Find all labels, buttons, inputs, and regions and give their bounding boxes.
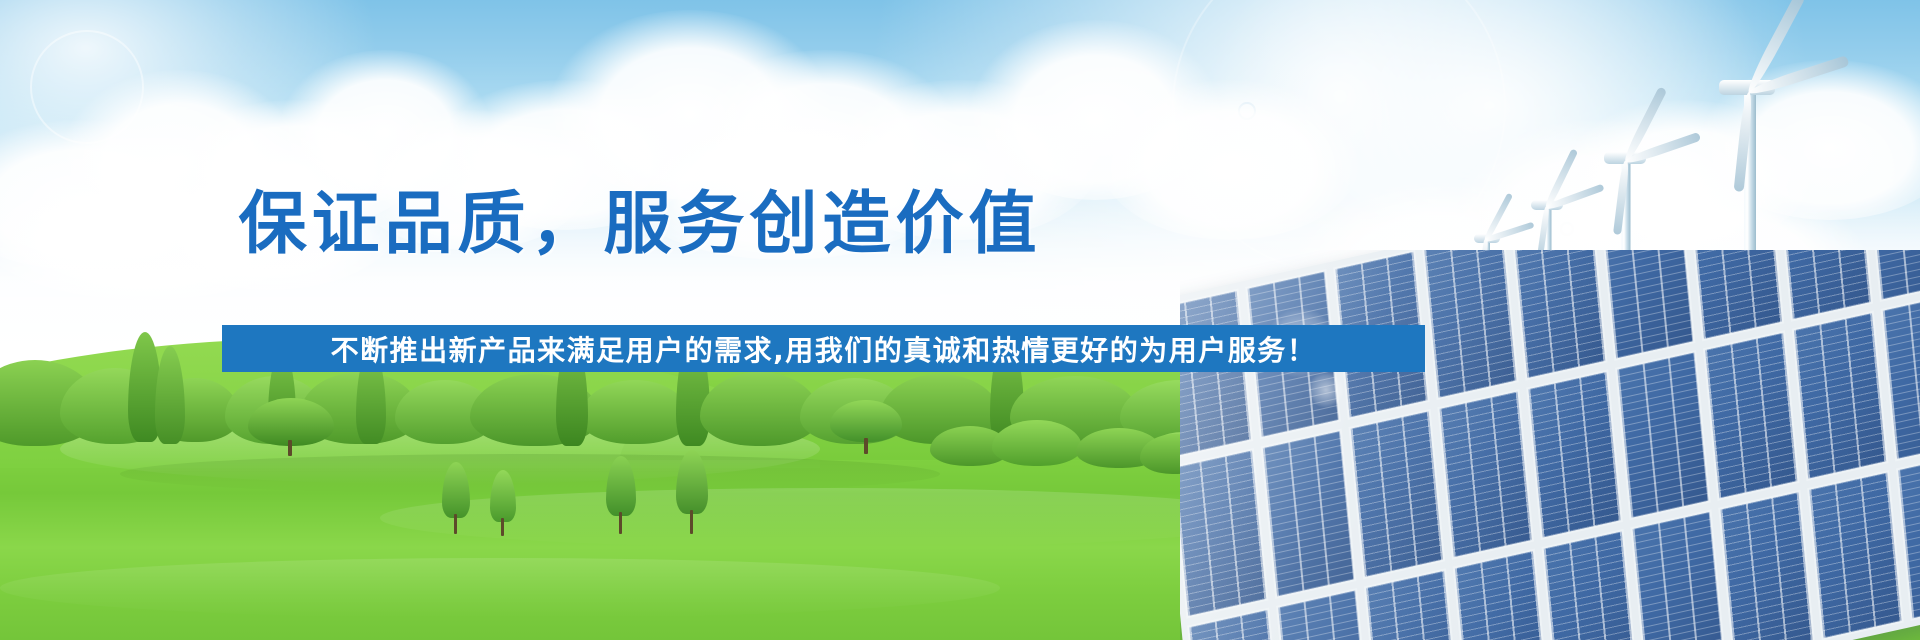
- solar-panel: [1364, 568, 1460, 640]
- solar-panel: [1718, 490, 1814, 640]
- solar-panel: [1526, 370, 1622, 541]
- solar-panel: [1599, 250, 1695, 361]
- hero-banner: 保证品质，服务创造价值 不断推出新产品来满足用户的需求,用我们的真诚和热情更好的…: [0, 0, 1920, 640]
- solar-panel: [1276, 588, 1372, 640]
- solar-panel: [1615, 350, 1711, 521]
- subtitle-bar: 不断推出新产品来满足用户的需求,用我们的真诚和热情更好的为用户服务！: [222, 325, 1425, 372]
- sapling-3: [602, 456, 640, 534]
- sapling-4: [672, 450, 712, 534]
- solar-panel: [1260, 428, 1356, 599]
- solar-panel: [1180, 448, 1268, 619]
- solar-panel-array: [1180, 250, 1920, 640]
- solar-panel: [1792, 311, 1888, 482]
- tree-cluster: [580, 380, 690, 444]
- subtitle-text: 不断推出新产品来满足用户的需求,用我们的真诚和热情更好的为用户服务！: [331, 329, 1317, 369]
- solar-panel: [1349, 409, 1445, 580]
- foreground-tree-medium: [830, 400, 902, 456]
- solar-panel: [1807, 470, 1903, 640]
- sapling-1: [438, 462, 474, 534]
- solar-panel: [1688, 250, 1784, 341]
- solar-panel: [1776, 250, 1872, 322]
- solar-panel: [1880, 291, 1920, 462]
- solar-panel: [1703, 330, 1799, 501]
- sapling-2: [486, 470, 520, 536]
- foreground-tree-large: [248, 398, 334, 458]
- solar-panel: [1453, 549, 1549, 640]
- solar-panel: [1437, 389, 1533, 560]
- grass-highlight-3: [0, 558, 1000, 618]
- cypress-tree: [155, 346, 185, 444]
- solar-panel: [1541, 529, 1637, 640]
- solar-panel: [1422, 250, 1518, 400]
- solar-panel: [1180, 289, 1253, 460]
- page-title: 保证品质，服务创造价值: [0, 168, 1280, 267]
- solar-panel: [1865, 250, 1920, 302]
- solar-panel: [1511, 250, 1607, 381]
- solar-panel: [1630, 509, 1726, 640]
- solar-array-frame: [1180, 250, 1920, 640]
